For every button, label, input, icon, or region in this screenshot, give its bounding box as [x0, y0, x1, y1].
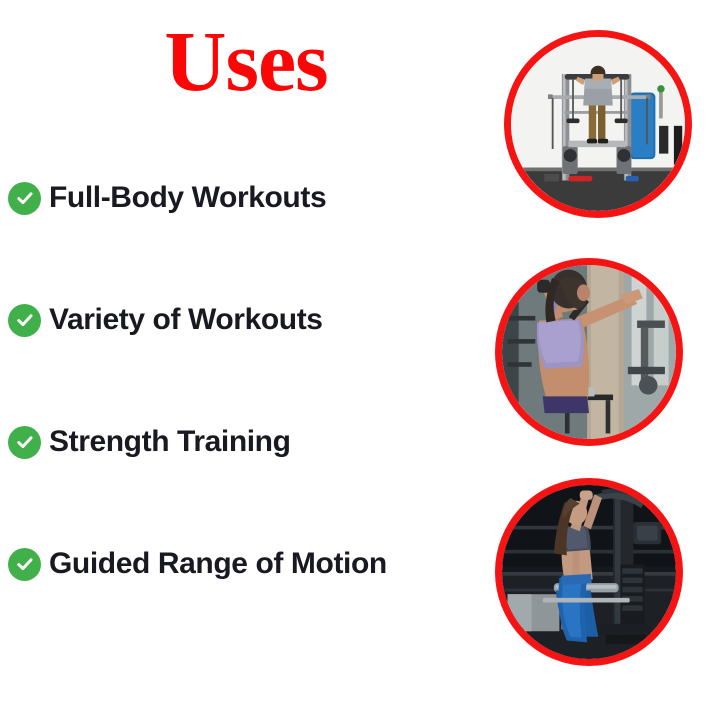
uses-slide: Uses Full-Body Workouts Variety of Worko…	[0, 0, 713, 713]
feature-list: Full-Body Workouts Variety of Workouts S…	[8, 172, 488, 590]
photo-woman-assisted-pullup	[495, 478, 683, 666]
list-item: Strength Training	[8, 416, 488, 468]
list-item: Full-Body Workouts	[8, 172, 488, 224]
photo-woman-cable-machine-image	[502, 265, 676, 439]
photo-woman-cable-machine	[495, 258, 683, 446]
photo-pullup-home-rack	[504, 30, 692, 218]
list-item-label: Guided Range of Motion	[49, 549, 387, 579]
list-item-label: Full-Body Workouts	[49, 183, 326, 213]
page-title: Uses	[0, 18, 492, 104]
list-item-label: Strength Training	[49, 427, 291, 457]
list-item: Guided Range of Motion	[8, 538, 488, 590]
check-circle-icon	[8, 304, 41, 337]
photo-woman-assisted-pullup-image	[502, 485, 676, 659]
photo-pullup-home-rack-image	[511, 37, 685, 211]
check-circle-icon	[8, 182, 41, 215]
list-item-label: Variety of Workouts	[49, 305, 323, 335]
list-item: Variety of Workouts	[8, 294, 488, 346]
check-circle-icon	[8, 426, 41, 459]
check-circle-icon	[8, 548, 41, 581]
